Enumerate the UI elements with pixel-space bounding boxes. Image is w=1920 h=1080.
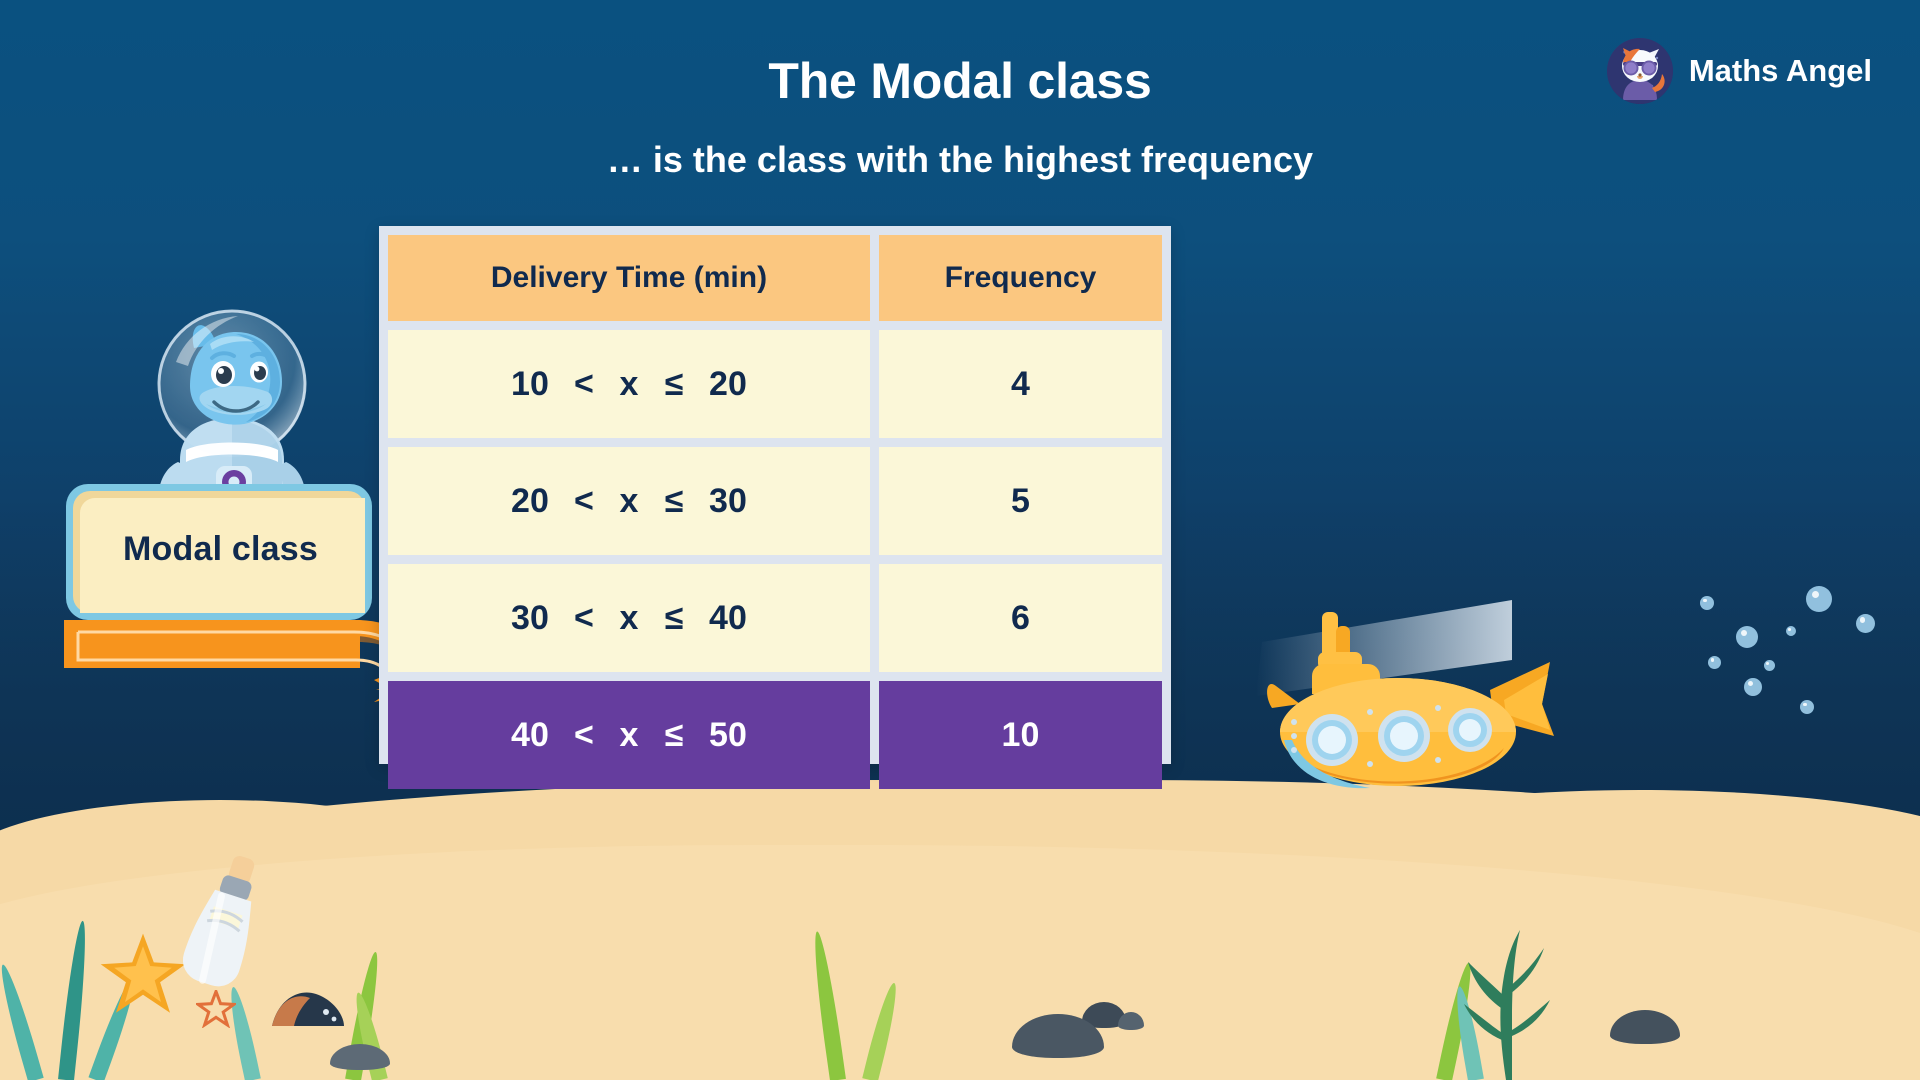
class-lower-bound: 20 [499,482,561,521]
class-interval-cell: 20 < x ≤ 30 [388,447,870,555]
class-upper-bound: 30 [697,482,759,521]
bubbles-icon [1764,660,1775,671]
bubbles-icon [1800,700,1814,714]
frequency-cell: 10 [879,681,1162,789]
bubbles-icon [1708,656,1721,669]
frequency-cell: 6 [879,564,1162,672]
inequality-expression: 40 < x ≤ 50 [499,716,759,755]
modal-class-callout: Modal class [66,484,372,620]
column-header-frequency: Frequency [879,235,1162,321]
inequality-operator-upper: ≤ [651,716,697,755]
submarine-icon [1258,604,1558,794]
variable-symbol: x [607,482,651,521]
class-lower-bound: 30 [499,599,561,638]
class-interval-cell: 30 < x ≤ 40 [388,564,870,672]
variable-symbol: x [607,365,651,404]
class-upper-bound: 40 [697,599,759,638]
coral-icon [1440,890,1570,1080]
table-row: 10 < x ≤ 20 4 [388,330,1162,438]
callout-mid-layer: Modal class [73,491,365,613]
column-header-delivery-time: Delivery Time (min) [388,235,870,321]
table-header-row: Delivery Time (min) Frequency [388,235,1162,321]
variable-symbol: x [607,716,651,755]
class-interval-cell: 40 < x ≤ 50 [388,681,870,789]
table-row: 20 < x ≤ 30 5 [388,447,1162,555]
inequality-operator-upper: ≤ [651,482,697,521]
bubbles-icon [1744,678,1762,696]
seafloor-front [0,845,1920,1080]
class-lower-bound: 10 [499,365,561,404]
page-subtitle: … is the class with the highest frequenc… [0,139,1920,181]
table-row-modal-class: 40 < x ≤ 50 10 [388,681,1162,789]
inequality-operator-lower: < [561,482,607,521]
inequality-operator-upper: ≤ [651,599,697,638]
frequency-cell: 4 [879,330,1162,438]
class-interval-cell: 10 < x ≤ 20 [388,330,870,438]
bubbles-icon [1786,626,1796,636]
brand-name: Maths Angel [1689,53,1872,89]
class-upper-bound: 50 [697,716,759,755]
bubbles-icon [1736,626,1758,648]
inequality-expression: 30 < x ≤ 40 [499,599,759,638]
inequality-operator-lower: < [561,716,607,755]
inequality-expression: 20 < x ≤ 30 [499,482,759,521]
class-upper-bound: 20 [697,365,759,404]
inequality-expression: 10 < x ≤ 20 [499,365,759,404]
cat-mascot-icon [1607,38,1673,104]
callout-inner-layer: Modal class [80,498,365,613]
brand-logo: Maths Angel [1607,38,1872,104]
callout-label: Modal class [123,530,318,569]
class-lower-bound: 40 [499,716,561,755]
inequality-operator-lower: < [561,599,607,638]
bubbles-icon [1700,596,1714,610]
shell-icon [268,986,348,1030]
slide-canvas: Modal class The Modal class … is the cla… [0,0,1920,1080]
inequality-operator-upper: ≤ [651,365,697,404]
bubbles-icon [1806,586,1832,612]
bubbles-icon [1856,614,1875,633]
table-row: 30 < x ≤ 40 6 [388,564,1162,672]
frequency-cell: 5 [879,447,1162,555]
inequality-operator-lower: < [561,365,607,404]
variable-symbol: x [607,599,651,638]
frequency-table: Delivery Time (min) Frequency 10 < x ≤ 2… [379,226,1171,764]
